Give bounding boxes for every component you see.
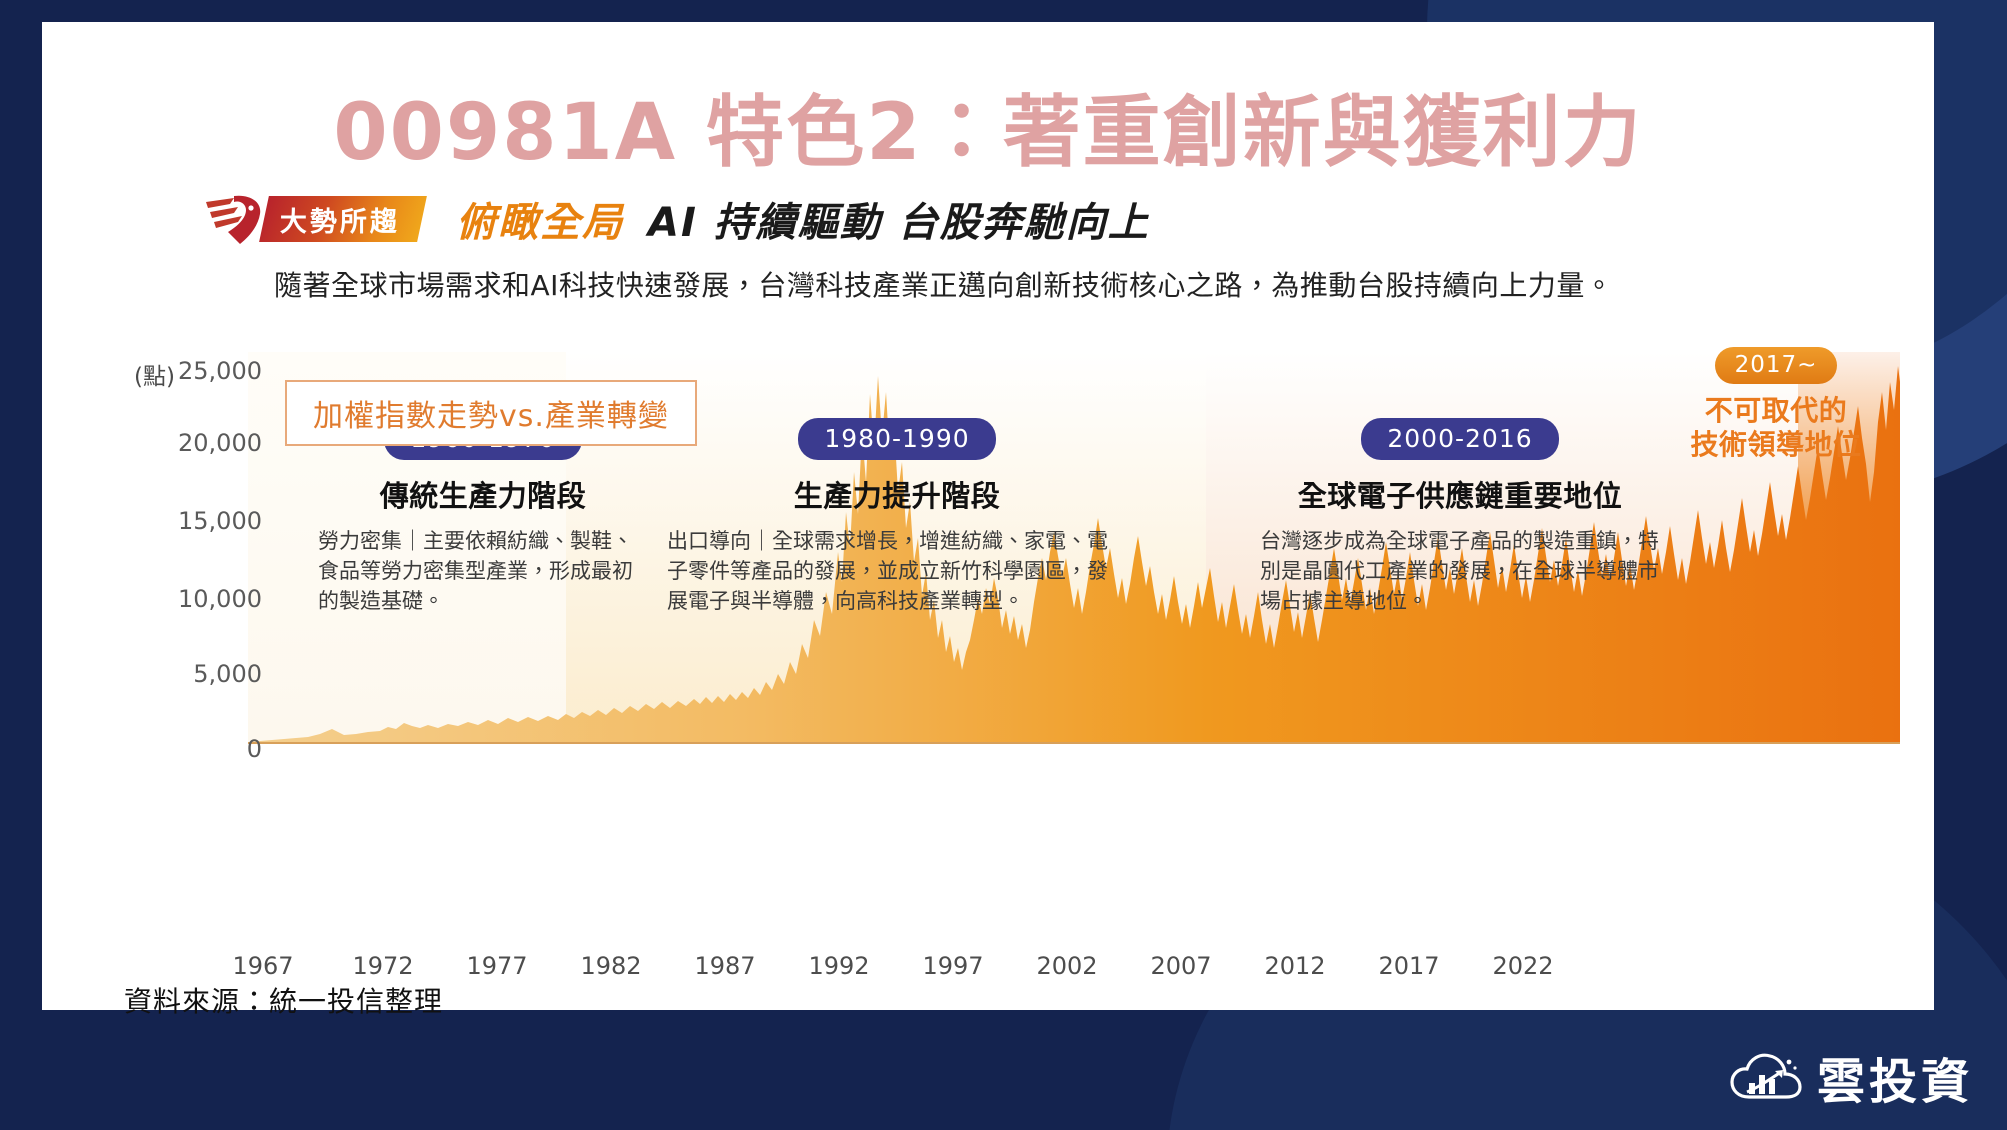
phase-1-title: 傳統生產力階段: [287, 473, 679, 515]
phase-4-title: 不可取代的 技術領導地位: [1676, 394, 1876, 462]
phase-2-body: 出口導向｜全球需求增長，增進紡織、家電、電子零件等產品的發展，並成立新竹科學園區…: [667, 527, 1127, 616]
y-tick-20000: 20,000: [178, 429, 262, 457]
y-tick-0: 0: [247, 735, 262, 763]
brand-logo: 雲投資: [1729, 1042, 1973, 1112]
phase-3-title: 全球電子供應鏈重要地位: [1220, 473, 1700, 515]
slide-card: 00981A 特色2：著重創新與獲利力 大勢所趨 俯瞰全局 AI 持續驅動 台股…: [42, 22, 1934, 1010]
brand-logo-text: 雲投資: [1817, 1042, 1973, 1112]
y-tick-5000: 5,000: [193, 660, 262, 688]
page-title: 00981A 特色2：著重創新與獲利力: [42, 70, 1934, 182]
subtitle-text: 隨著全球市場需求和AI科技快速發展，台灣科技產業正邁向創新技術核心之路，為推動台…: [274, 264, 1613, 304]
phase-2-badge: 1980-1990: [798, 418, 995, 460]
x-tick-1977: 1977: [466, 952, 527, 980]
banner-headline-orange: 俯瞰全局: [456, 190, 624, 248]
x-tick-1992: 1992: [808, 952, 869, 980]
x-axis: 1967 1972 1977 1982 1987 1992 1997 2002 …: [248, 952, 1900, 992]
phase-4-body: 隨著電動車、AI等技術的快速發展，台灣科技創新與技術深度，支撐全球科技生態系統，…: [1682, 774, 1878, 956]
x-tick-1967: 1967: [232, 952, 293, 980]
chart-title-box: 加權指數走勢vs.產業轉變: [285, 380, 697, 446]
phase-3-body: 台灣逐步成為全球電子產品的製造重鎮，特別是晶圓代工產業的發展，在全球半導體市場占…: [1260, 527, 1660, 616]
x-tick-2002: 2002: [1036, 952, 1097, 980]
phase-1-body: 勞力密集｜主要依賴紡織、製鞋、食品等勞力密集型產業，形成最初的製造基礎。: [318, 527, 648, 616]
y-tick-10000: 10,000: [178, 585, 262, 613]
x-tick-2022: 2022: [1492, 952, 1553, 980]
y-axis: (點) 25,000 20,000 15,000 10,000 5,000 0: [142, 347, 262, 747]
phase-block-4-body: 隨著電動車、AI等技術的快速發展，台灣科技創新與技術深度，支撐全球科技生態系統，…: [1682, 762, 1878, 956]
cloud-chart-icon: [1729, 1047, 1803, 1107]
banner-badge-label: 大勢所趨: [259, 196, 427, 242]
phase-block-1: 1960-1970 傳統生產力階段 勞力密集｜主要依賴紡織、製鞋、食品等勞力密集…: [287, 418, 679, 616]
y-axis-unit: (點): [134, 357, 175, 391]
banner: 大勢所趨 俯瞰全局 AI 持續驅動 台股奔馳向上: [204, 190, 1150, 248]
x-tick-2012: 2012: [1264, 952, 1325, 980]
x-tick-2007: 2007: [1150, 952, 1211, 980]
banner-headline-black: AI 持續驅動 台股奔馳向上: [648, 190, 1150, 248]
y-tick-25000: 25,000: [178, 357, 262, 385]
phase-block-3: 2000-2016 全球電子供應鏈重要地位 台灣逐步成為全球電子產品的製造重鎮，…: [1220, 418, 1700, 616]
x-tick-1982: 1982: [580, 952, 641, 980]
phase-block-4: 2017~ 不可取代的 技術領導地位: [1676, 347, 1876, 462]
phase-2-title: 生產力提升階段: [642, 473, 1152, 515]
x-tick-1972: 1972: [352, 952, 413, 980]
source-note: 資料來源：統一投信整理: [124, 980, 443, 1020]
x-tick-1987: 1987: [694, 952, 755, 980]
x-tick-1997: 1997: [922, 952, 983, 980]
y-tick-15000: 15,000: [178, 507, 262, 535]
phase-4-badge: 2017~: [1715, 347, 1838, 384]
phase-3-badge: 2000-2016: [1361, 418, 1558, 460]
phase-block-2: 1980-1990 生產力提升階段 出口導向｜全球需求增長，增進紡織、家電、電子…: [642, 418, 1152, 616]
x-tick-2017: 2017: [1378, 952, 1439, 980]
